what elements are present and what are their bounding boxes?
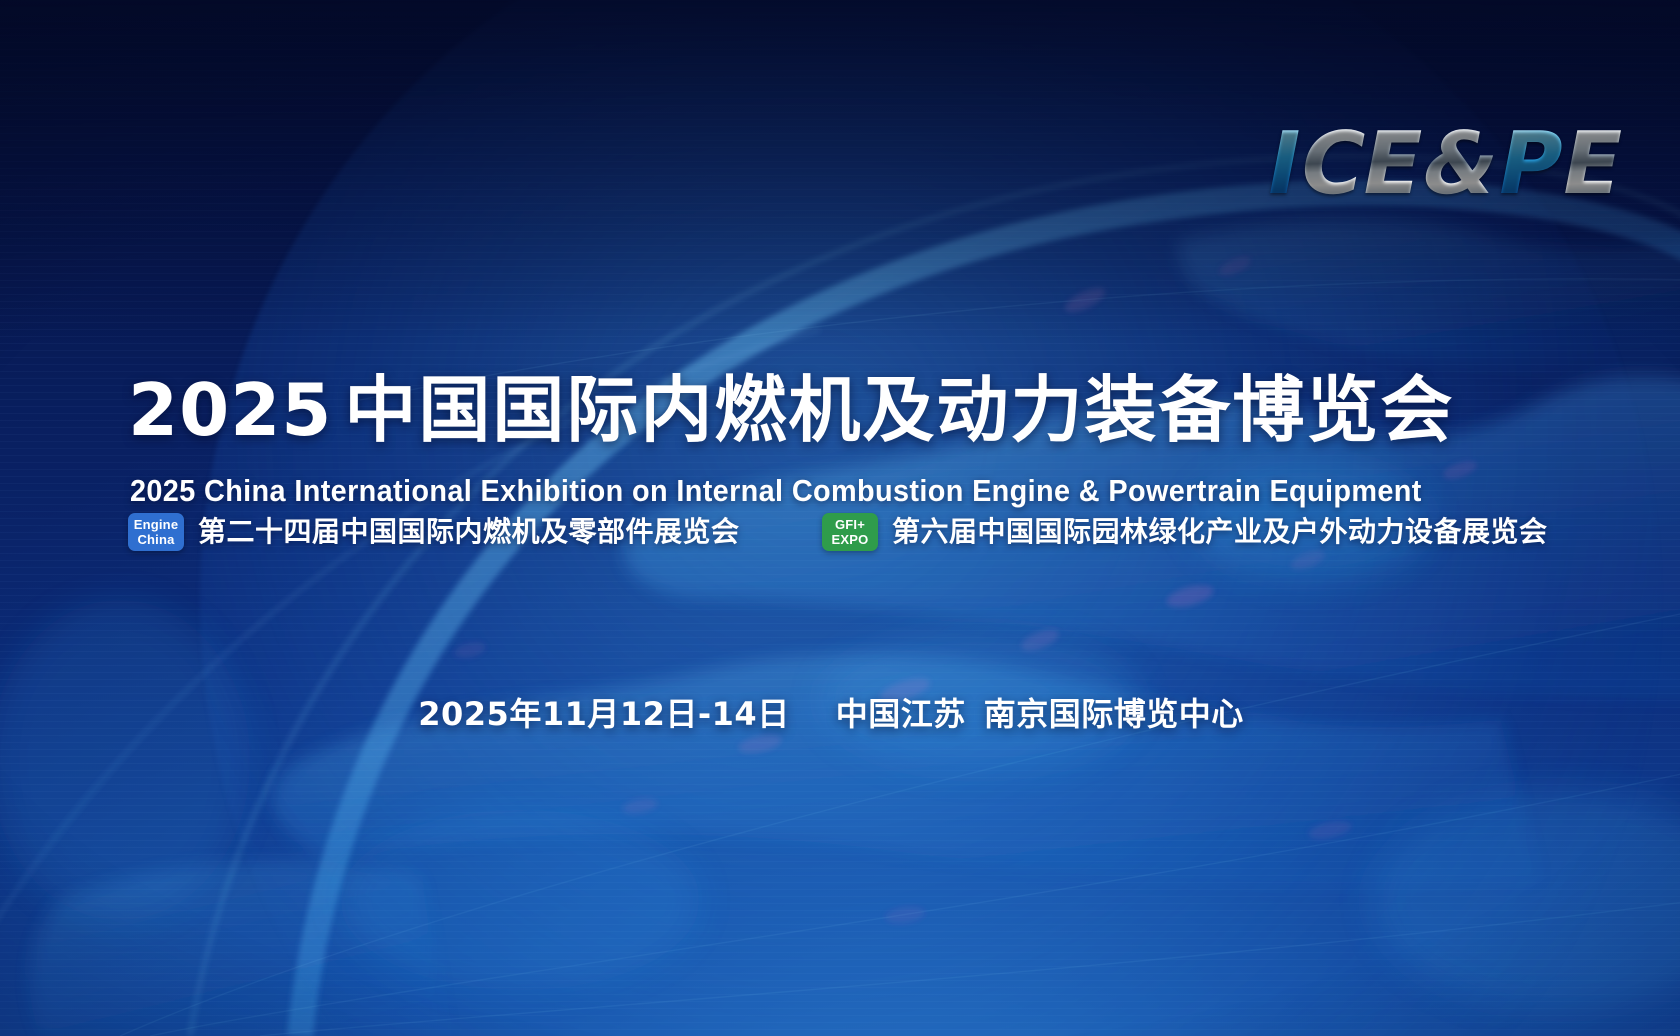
main-title-english: 2025 China International Exhibition on I… (130, 472, 1422, 510)
event-venue-name: 南京国际博览中心 (984, 695, 1244, 733)
subevent-engine-china: Engine China 第二十四届中国国际内燃机及零部件展览会 (128, 512, 740, 552)
engine-china-label: 第二十四届中国国际内燃机及零部件展览会 (198, 515, 740, 549)
event-info: 2025年11月12日-14日 中国江苏南京国际博览中心 (0, 692, 1680, 736)
event-venue: 中国江苏南京国际博览中心 (836, 692, 1262, 736)
gfi-expo-badge-line2: EXPO (832, 532, 869, 547)
gfi-expo-badge: GFI+ EXPO (822, 513, 878, 551)
event-poster: I CE & P E 2025中国国际内燃机及动力装备博览会 2025 Chin… (0, 0, 1680, 1036)
main-title-chinese: 2025中国国际内燃机及动力装备博览会 (128, 370, 1558, 450)
event-venue-region: 中国江苏 (836, 695, 966, 733)
main-title-year: 2025 (128, 368, 332, 452)
event-dates: 2025年11月12日-14日 (418, 692, 789, 736)
engine-china-badge: Engine China (128, 513, 184, 551)
poster-content: 2025中国国际内燃机及动力装备博览会 2025 China Internati… (0, 0, 1680, 1036)
gfi-expo-label: 第六届中国国际园林绿化产业及户外动力设备展览会 (892, 515, 1548, 549)
main-title-chinese-text: 中国国际内燃机及动力装备博览会 (344, 368, 1454, 452)
engine-china-badge-line1: Engine (134, 517, 179, 532)
engine-china-badge-line2: China (137, 532, 174, 547)
gfi-expo-badge-line1: GFI+ (835, 517, 865, 532)
subevent-gfi-expo: GFI+ EXPO 第六届中国国际园林绿化产业及户外动力设备展览会 (822, 512, 1548, 552)
